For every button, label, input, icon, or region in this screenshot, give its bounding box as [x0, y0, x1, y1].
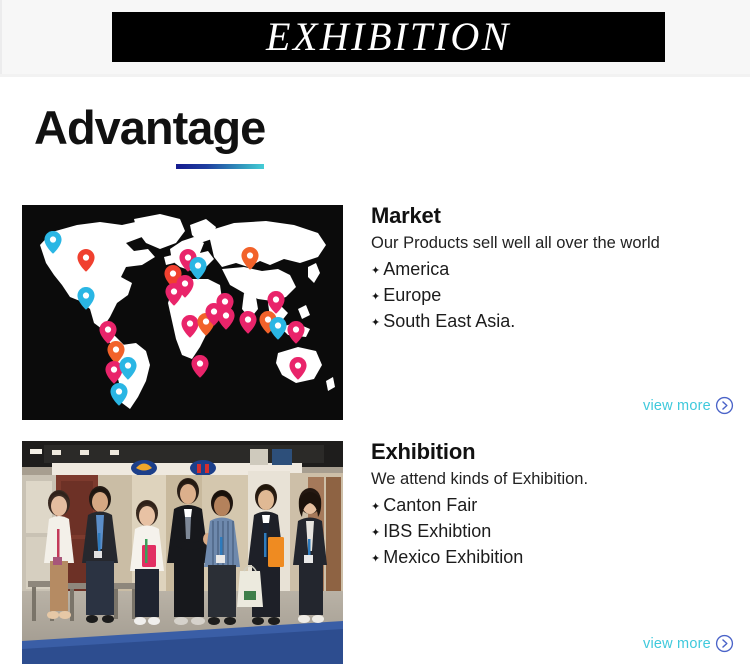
diamond-bullet-icon: ✦ [371, 292, 380, 303]
diamond-bullet-icon: ✦ [371, 528, 380, 539]
chevron-right-circle-icon [715, 634, 734, 653]
diamond-bullet-icon: ✦ [371, 502, 380, 513]
header-left-edge [0, 0, 2, 77]
view-more-link-exhibition[interactable]: view more [643, 634, 734, 653]
chevron-right-circle-icon [715, 396, 734, 415]
list-item-label: Mexico Exhibition [383, 544, 523, 570]
list-item: ✦ Mexico Exhibition [371, 544, 743, 570]
list-item-label: South East Asia. [383, 308, 515, 334]
exhibition-heading: Exhibition [371, 439, 743, 466]
diamond-bullet-icon: ✦ [371, 554, 380, 565]
diamond-bullet-icon: ✦ [371, 318, 380, 329]
list-item-label: America [383, 256, 449, 282]
photo-canvas [22, 441, 343, 664]
list-item: ✦ South East Asia. [371, 308, 743, 334]
page-header-band: EXHIBITION [0, 0, 750, 77]
view-more-label: view more [643, 636, 711, 652]
list-item: ✦ IBS Exhibtion [371, 518, 743, 544]
map-canvas [22, 205, 343, 420]
page-title: Advantage [34, 100, 265, 155]
view-more-label: view more [643, 398, 711, 414]
exhibition-copy-block: Exhibition We attend kinds of Exhibition… [371, 439, 743, 571]
header-bottom-line [0, 74, 750, 77]
market-heading: Market [371, 203, 743, 230]
exhibition-photo-image [22, 441, 343, 664]
exhibition-banner: EXHIBITION [112, 12, 665, 62]
market-subtitle: Our Products sell well all over the worl… [371, 233, 743, 254]
list-item-label: Canton Fair [383, 492, 477, 518]
list-item-label: IBS Exhibtion [383, 518, 491, 544]
banner-title: EXHIBITION [266, 17, 511, 57]
market-bullet-list: ✦ America ✦ Europe ✦ South East Asia. [371, 256, 743, 334]
exhibition-bullet-list: ✦ Canton Fair ✦ IBS Exhibtion ✦ Mexico E… [371, 492, 743, 570]
advantage-row-market: Market Our Products sell well all over t… [0, 203, 750, 425]
title-underline-rule [176, 164, 264, 169]
list-item-label: Europe [383, 282, 441, 308]
advantage-row-exhibition: Exhibition We attend kinds of Exhibition… [0, 439, 750, 664]
exhibition-subtitle: We attend kinds of Exhibition. [371, 469, 743, 490]
diamond-bullet-icon: ✦ [371, 266, 380, 277]
list-item: ✦ Canton Fair [371, 492, 743, 518]
list-item: ✦ America [371, 256, 743, 282]
list-item: ✦ Europe [371, 282, 743, 308]
market-copy-block: Market Our Products sell well all over t… [371, 203, 743, 335]
world-map-image [22, 205, 343, 420]
view-more-link-market[interactable]: view more [643, 396, 734, 415]
